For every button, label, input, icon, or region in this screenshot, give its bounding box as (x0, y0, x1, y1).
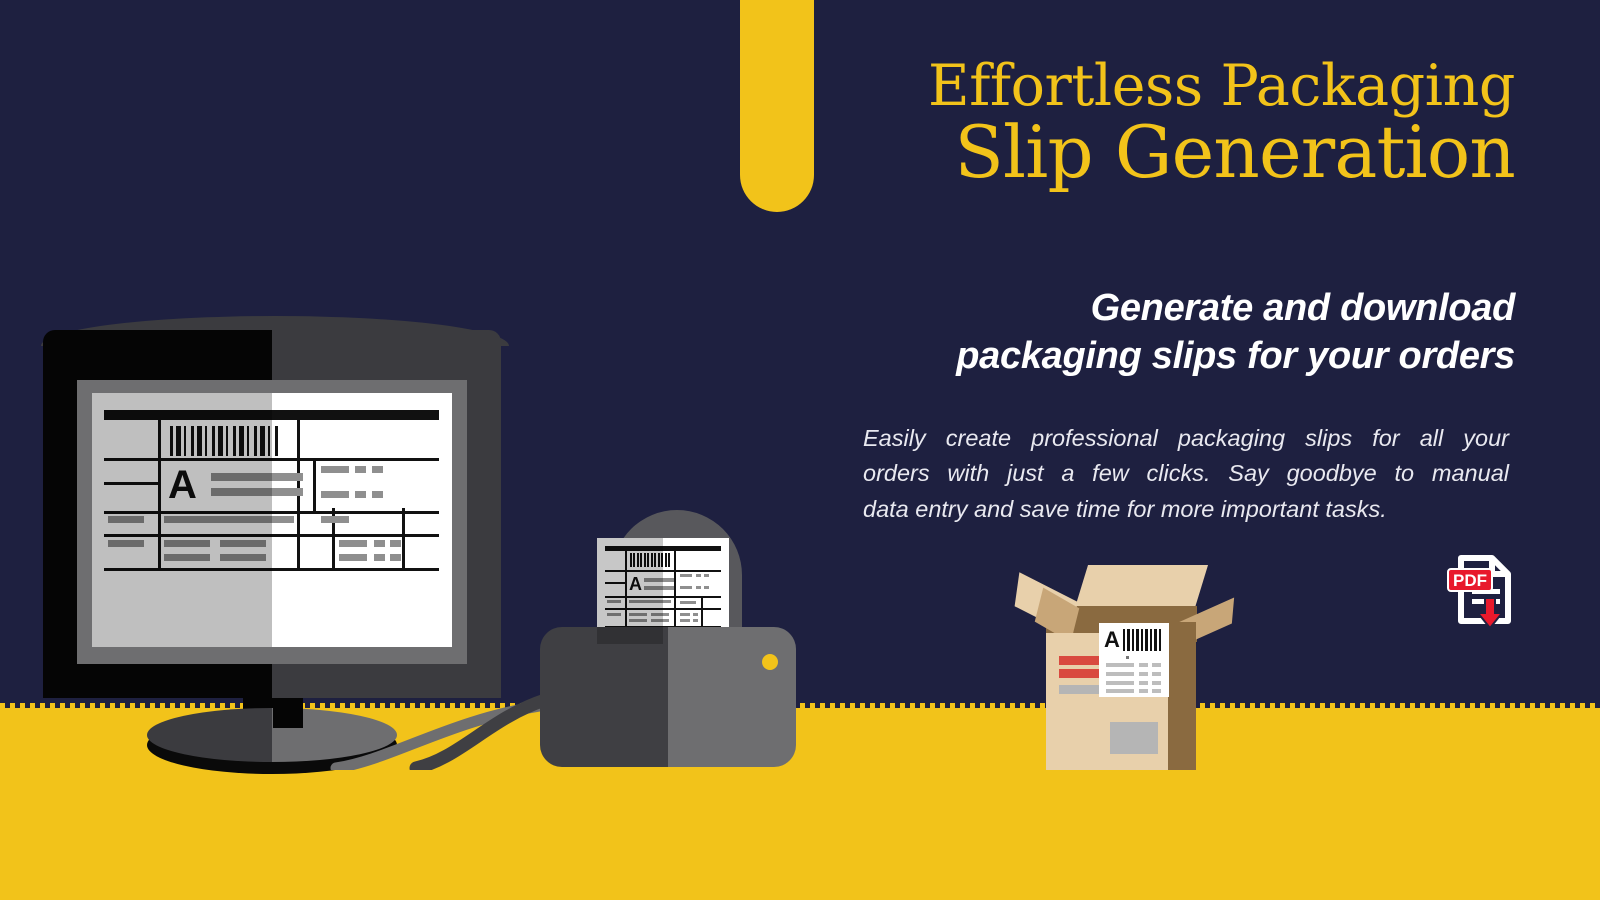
slip-cell-bar (372, 491, 383, 498)
box-gray-patch (1110, 722, 1158, 754)
slip-rule-vertical (402, 508, 405, 571)
slip-cell-bar (704, 574, 709, 577)
slip-cell-bar (680, 574, 692, 577)
body-line-3: data entry and save time for more import… (863, 492, 1509, 528)
body-line-1: Easily create professional packaging sli… (863, 421, 1509, 457)
slip-cell-bar (693, 613, 698, 616)
slip-cell-bar (704, 586, 709, 589)
yellow-accent-bar (740, 0, 814, 212)
slip-rule-vertical (701, 596, 703, 626)
monitor-neck-front (273, 698, 303, 728)
slip-cell-bar (680, 601, 696, 604)
slip-cell-bar (321, 466, 349, 473)
slip-cell-bar (374, 540, 385, 547)
pdf-download-icon[interactable]: PDF (1444, 549, 1516, 631)
slip-cell-bar (355, 466, 366, 473)
pdf-badge-label: PDF (1453, 571, 1487, 590)
printer: A (540, 510, 805, 770)
screen-shadow-overlay (92, 393, 272, 647)
slip-cell-bar (693, 619, 698, 622)
slip-cell-bar (321, 516, 349, 523)
slip-cell-bar (321, 491, 349, 498)
slip-cell-bar (680, 586, 692, 589)
slip-cell-bar (339, 554, 367, 561)
slip-cell-bar (390, 540, 401, 547)
slip-cell-bar (374, 554, 385, 561)
printer-body-right (668, 627, 796, 767)
banner-stage: A (0, 0, 1600, 900)
slip-cell-bar (680, 619, 690, 622)
headline-line-1: Effortless Packaging (855, 59, 1515, 113)
monitor-screen: A (92, 393, 452, 647)
slip-cell-bar (696, 586, 701, 589)
body-line-2: orders with just a few clicks. Say goodb… (863, 456, 1509, 492)
slip-rule-vertical (674, 551, 676, 626)
page-description: Easily create professional packaging sli… (863, 421, 1509, 528)
printer-status-led (762, 654, 778, 670)
paper-shadow-overlay (597, 538, 663, 644)
slip-cell-bar (696, 574, 701, 577)
subhead-line-1: Generate and download (855, 284, 1515, 333)
banner-text-column: Effortless Packaging Slip Generation Gen… (855, 0, 1515, 706)
page-subtitle: Generate and download packaging slips fo… (855, 284, 1515, 381)
headline-line-2: Slip Generation (855, 118, 1515, 186)
subhead-line-2: packaging slips for your orders (855, 332, 1515, 381)
slip-cell-bar (355, 491, 366, 498)
printer-body-left (540, 627, 668, 767)
slip-rule-vertical (313, 458, 316, 511)
slip-cell-bar (339, 540, 367, 547)
page-title: Effortless Packaging Slip Generation (855, 59, 1515, 186)
slip-cell-bar (372, 466, 383, 473)
slip-cell-bar (680, 613, 690, 616)
slip-cell-bar (390, 554, 401, 561)
